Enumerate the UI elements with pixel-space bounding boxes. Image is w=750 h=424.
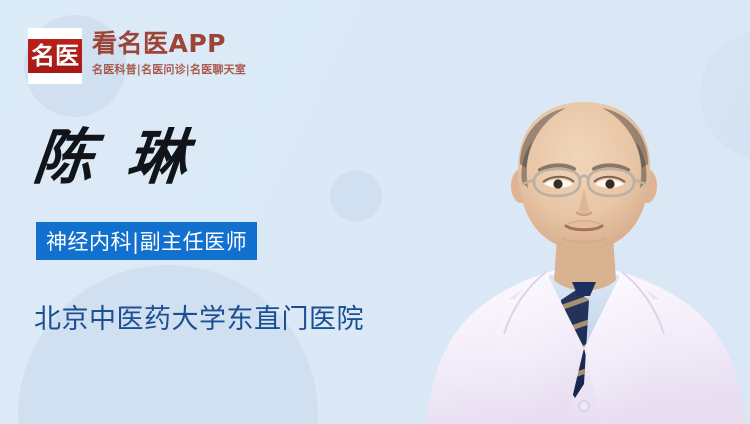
app-tagline: 名医科普|名医问诊|名医聊天室	[92, 61, 246, 77]
doctor-portrait	[416, 94, 750, 424]
doctor-profile-card: 名医 看名医APP 名医科普|名医问诊|名医聊天室 陈 琳 神经内科|副主任医师…	[0, 0, 750, 424]
hospital-name: 北京中医药大学东直门医院	[34, 297, 364, 336]
specialty-title-badge: 神经内科|副主任医师	[36, 222, 257, 260]
decor-circle-bottom-left	[18, 265, 318, 424]
doctor-name: 陈 琳	[31, 128, 196, 188]
brand-logo-block[interactable]: 名医 看名医APP 名医科普|名医问诊|名医聊天室	[28, 28, 246, 84]
brand-logo-plate: 名医	[28, 28, 82, 84]
decor-circle-mid-right	[330, 170, 382, 222]
brand-logo-mark-icon: 名医	[28, 39, 82, 73]
brand-text-group: 看名医APP 名医科普|名医问诊|名医聊天室	[92, 28, 246, 77]
app-name: 看名医APP	[92, 31, 246, 57]
